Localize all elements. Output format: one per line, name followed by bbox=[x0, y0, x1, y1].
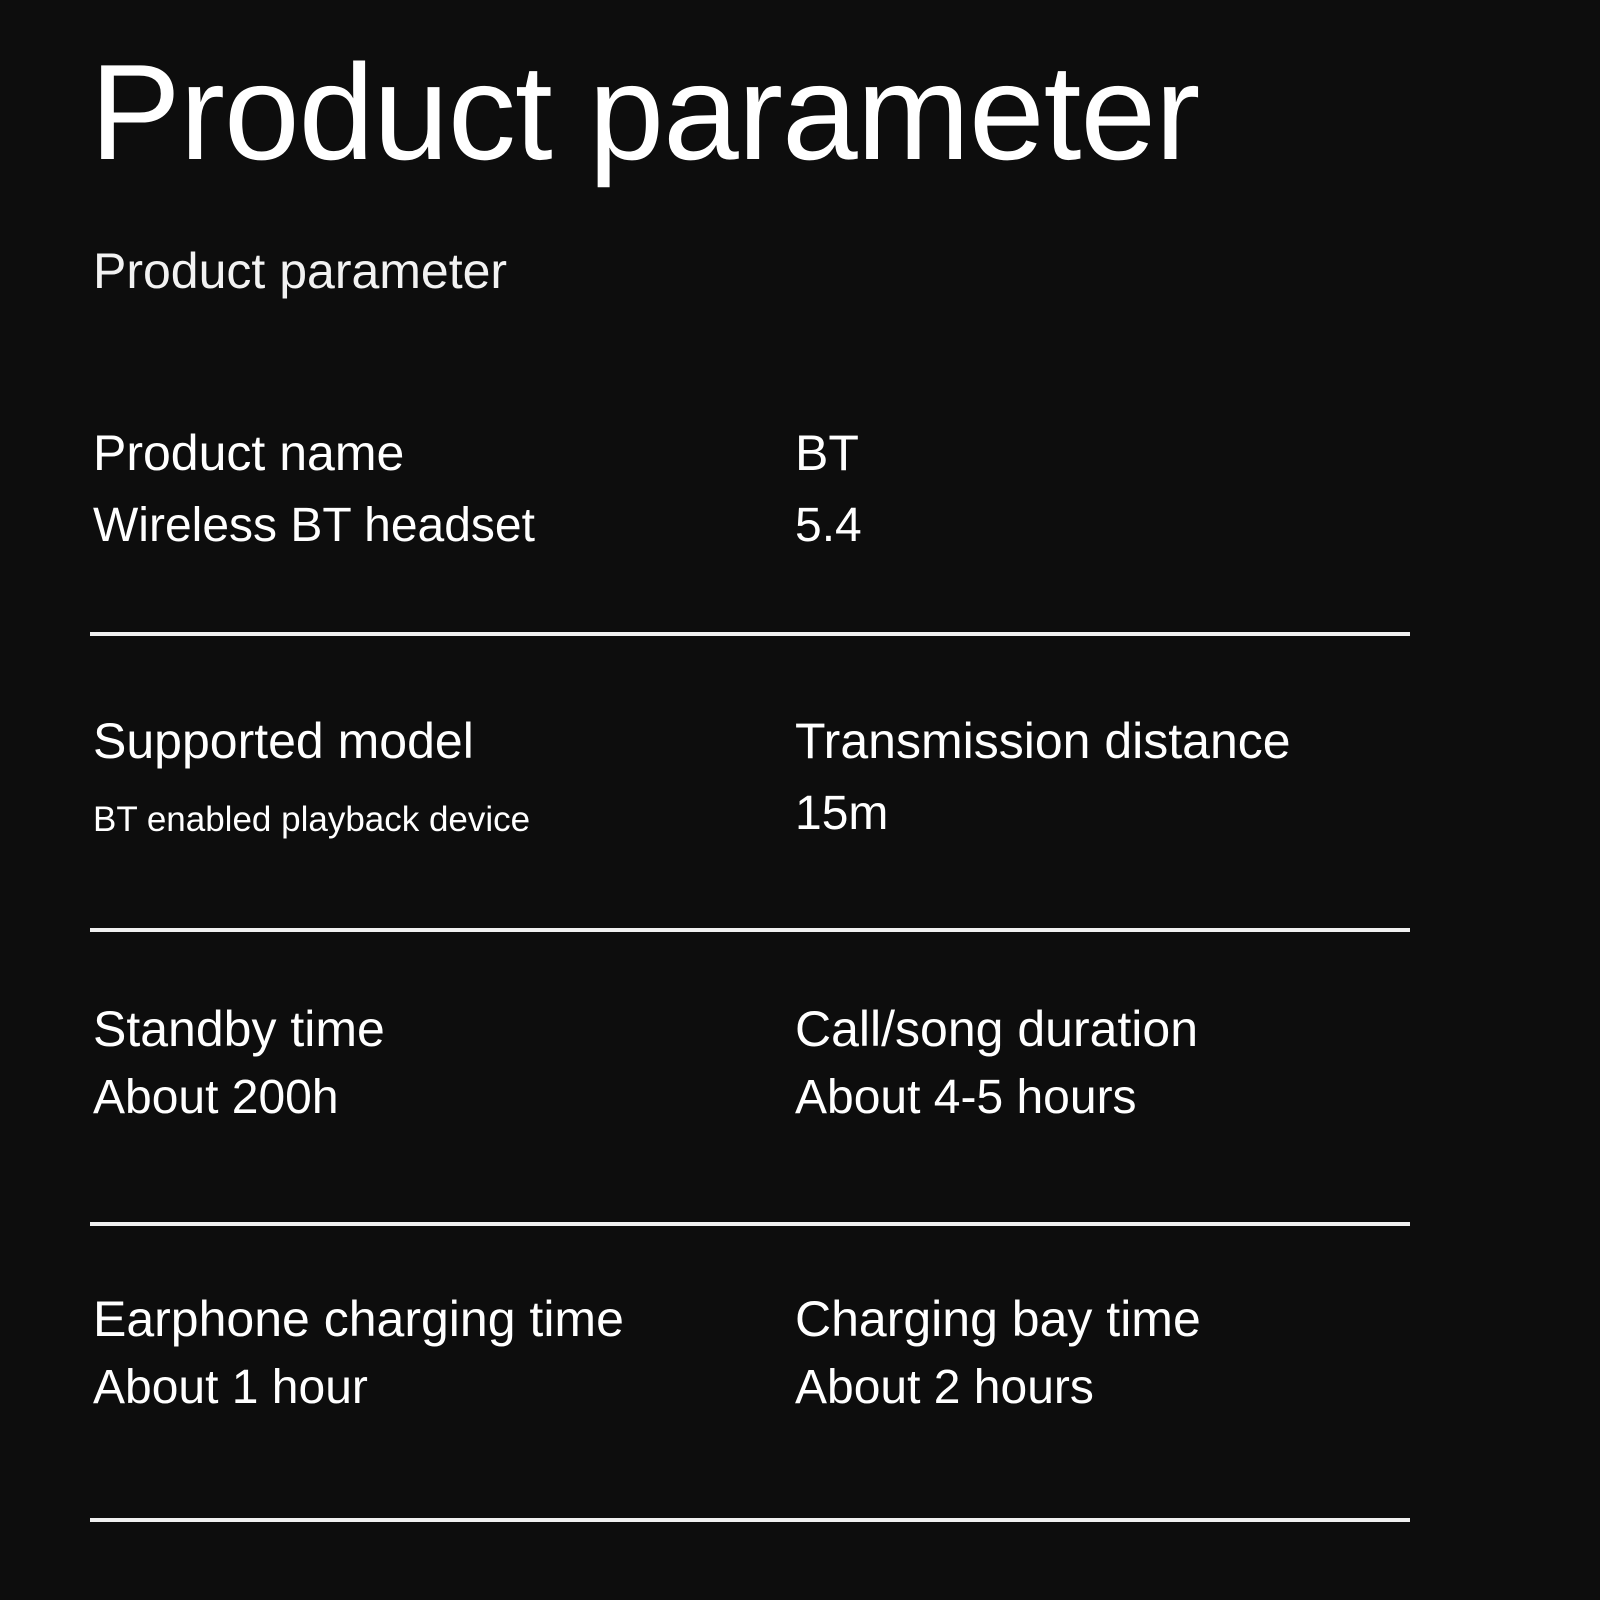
spec-label: Earphone charging time bbox=[93, 1294, 624, 1344]
spec-cell-charging-bay-time: Charging bay time About 2 hours bbox=[795, 1294, 1201, 1412]
spec-value: About 1 hour bbox=[93, 1364, 624, 1412]
spec-value: Wireless BT headset bbox=[93, 502, 535, 550]
spec-value: About 4-5 hours bbox=[795, 1074, 1198, 1122]
row-divider bbox=[90, 1518, 1410, 1522]
spec-label: Transmission distance bbox=[795, 716, 1291, 766]
spec-cell-product-name: Product name Wireless BT headset bbox=[93, 428, 535, 550]
spec-value: 5.4 bbox=[795, 502, 862, 550]
spec-cell-supported-model: Supported model BT enabled playback devi… bbox=[93, 716, 530, 837]
spec-cell-call-song-duration: Call/song duration About 4-5 hours bbox=[795, 1004, 1198, 1122]
spec-cell-transmission-distance: Transmission distance 15m bbox=[795, 716, 1291, 838]
spec-value: About 2 hours bbox=[795, 1364, 1201, 1412]
spec-cell-bt-version: BT 5.4 bbox=[795, 428, 862, 550]
spec-label: Charging bay time bbox=[795, 1294, 1201, 1344]
spec-label: Standby time bbox=[93, 1004, 385, 1054]
spec-cell-standby-time: Standby time About 200h bbox=[93, 1004, 385, 1122]
row-divider bbox=[90, 928, 1410, 932]
page-subtitle: Product parameter bbox=[93, 246, 507, 296]
row-divider bbox=[90, 632, 1410, 636]
row-divider bbox=[90, 1222, 1410, 1226]
spec-label: Supported model bbox=[93, 716, 530, 766]
spec-label: BT bbox=[795, 428, 862, 478]
spec-label: Product name bbox=[93, 428, 535, 478]
spec-cell-earphone-charging-time: Earphone charging time About 1 hour bbox=[93, 1294, 624, 1412]
product-parameter-page: Product parameter Product parameter Prod… bbox=[0, 0, 1600, 1600]
spec-value: 15m bbox=[795, 790, 1291, 838]
page-title: Product parameter bbox=[90, 44, 1199, 180]
spec-value: BT enabled playback device bbox=[93, 802, 530, 837]
spec-label: Call/song duration bbox=[795, 1004, 1198, 1054]
spec-value: About 200h bbox=[93, 1074, 385, 1122]
